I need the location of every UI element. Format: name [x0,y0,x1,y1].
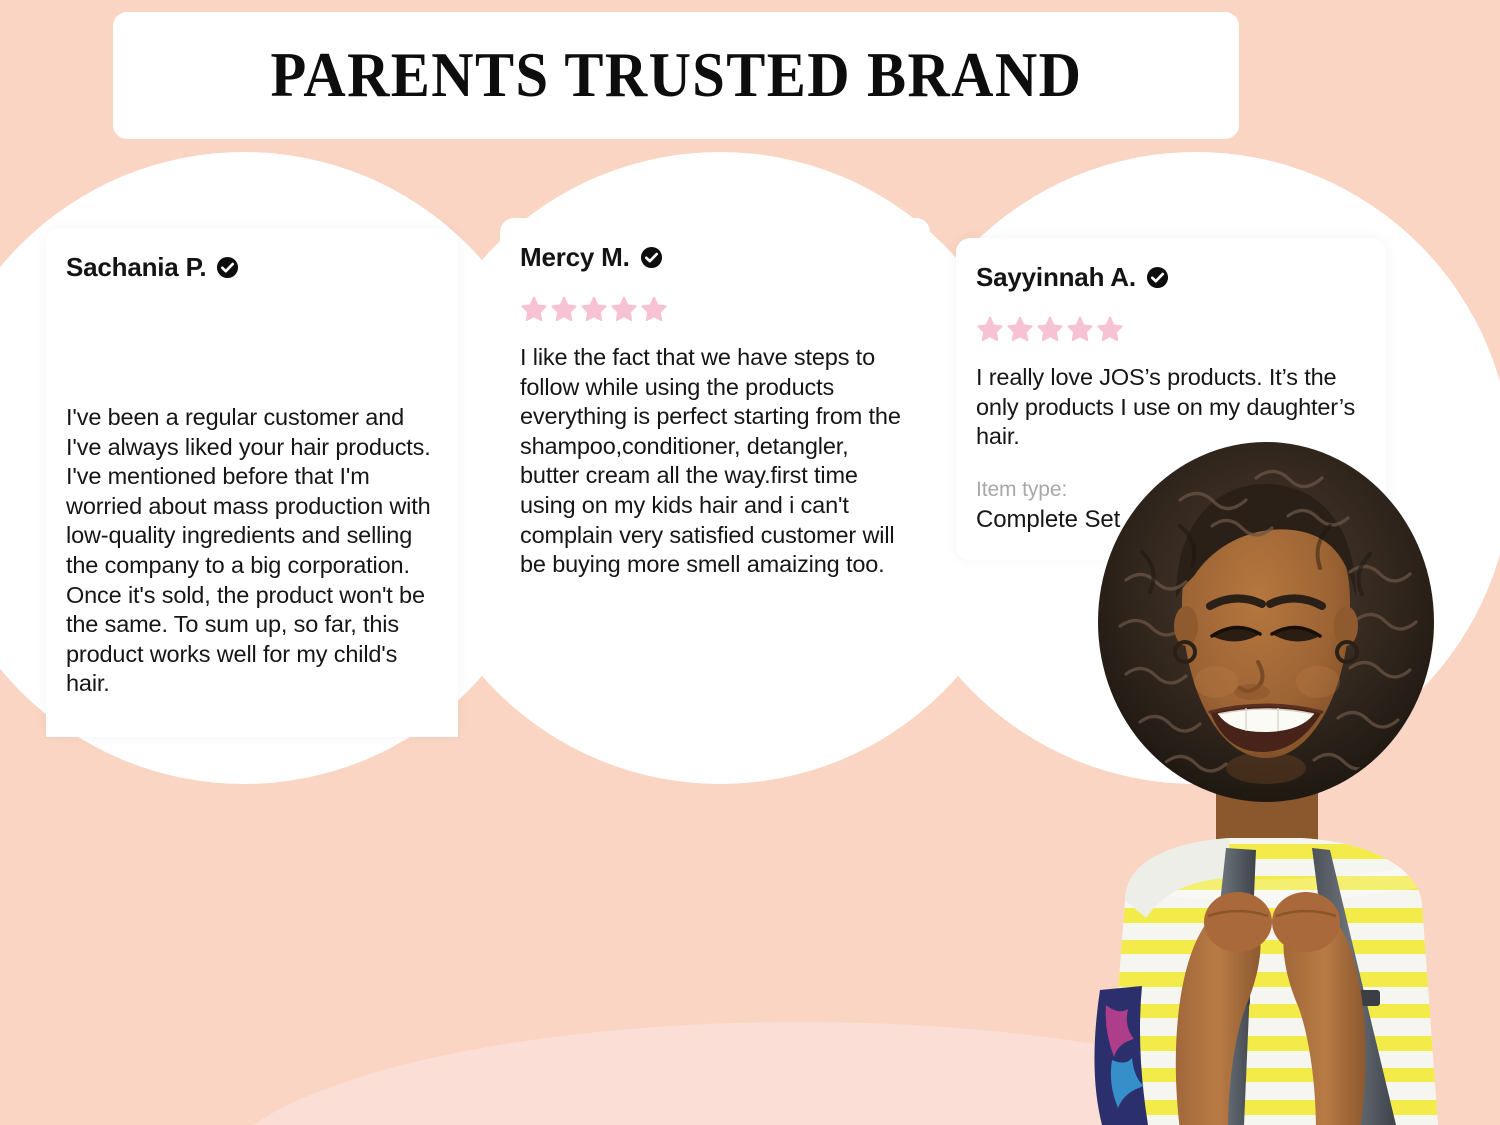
item-type-value: Complete Set [976,506,1366,534]
reviewer-name: Mercy M. [520,242,630,273]
review-text: I really love JOS’s products. It’s the o… [976,363,1366,452]
star-icon [1006,315,1034,343]
star-icon [580,295,608,323]
review-card: Sachania P. I've been a regular customer… [46,228,458,737]
review-text: I've been a regular customer and I've al… [66,403,438,699]
reviewer-name: Sachania P. [66,252,206,283]
star-icon [610,295,638,323]
bottom-ellipse-shape [210,1022,1390,1125]
star-icon [550,295,578,323]
page-title: PARENTS TRUSTED BRAND [270,44,1082,107]
reviewer-header: Sayyinnah A. [976,262,1366,293]
poster-canvas: PARENTS TRUSTED BRAND Sachania P. I've b… [0,0,1500,1125]
reviewer-header: Mercy M. [520,242,910,273]
star-icon [1036,315,1064,343]
item-type-label: Item type: [976,478,1366,502]
star-icon [520,295,548,323]
review-text: I like the fact that we have steps to fo… [520,343,910,580]
star-icon [1066,315,1094,343]
star-rating [976,315,1366,343]
star-icon [640,295,668,323]
star-icon [976,315,1004,343]
verified-check-icon [1146,266,1169,289]
verified-check-icon [640,246,663,269]
review-card: Sayyinnah A. I really love JOS’s product… [956,238,1386,560]
star-icon [1096,315,1124,343]
reviewer-header: Sachania P. [66,252,438,283]
verified-check-icon [216,256,239,279]
review-card: Mercy M. I like the fact that we have st… [500,218,930,606]
reviewer-name: Sayyinnah A. [976,262,1136,293]
star-rating [520,295,910,323]
star-rating [66,283,438,383]
header-title-card: PARENTS TRUSTED BRAND [113,12,1239,139]
